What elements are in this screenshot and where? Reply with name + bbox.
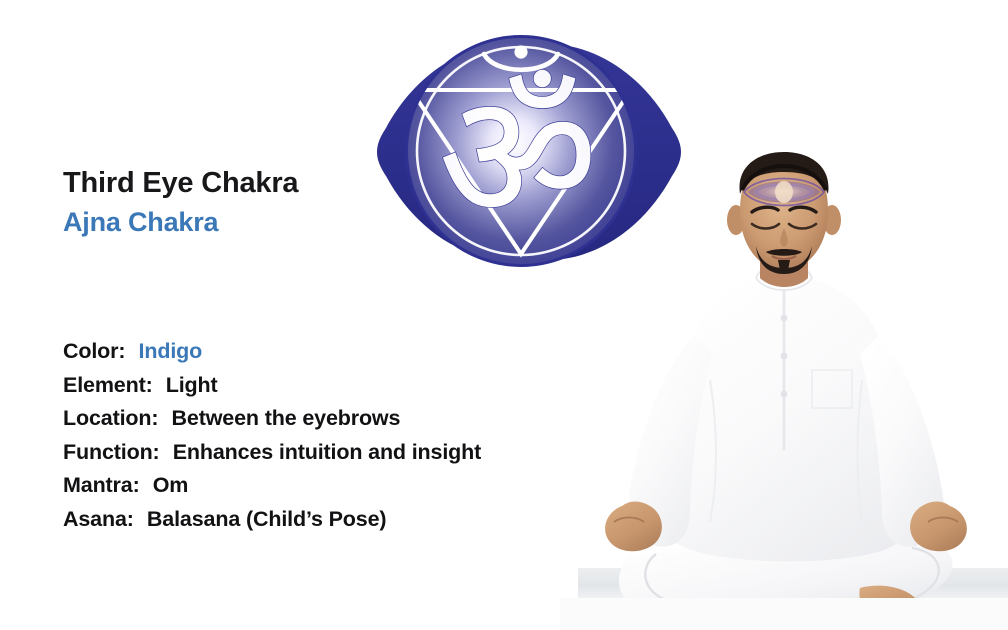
attribute-value: Balasana (Child’s Pose): [147, 507, 387, 531]
attribute-label: Color:: [63, 339, 125, 363]
head: [727, 152, 841, 274]
headline-block: Third Eye Chakra Ajna Chakra: [63, 166, 583, 239]
meditating-man-photo: [560, 150, 1008, 630]
attribute-row-location: Location: Between the eyebrows: [63, 402, 623, 436]
attribute-label: Location:: [63, 406, 158, 430]
attribute-row-function: Function: Enhances intuition and insight: [63, 436, 623, 470]
slide-canvas: ॐ Third Eye Chakra Ajna Chakra Color: In…: [0, 0, 1008, 630]
attribute-label: Asana:: [63, 507, 134, 531]
attribute-value: Om: [153, 473, 189, 497]
attribute-row-element: Element: Light: [63, 369, 623, 403]
attribute-value: Light: [166, 373, 218, 397]
attribute-label: Element:: [63, 373, 153, 397]
attribute-label: Mantra:: [63, 473, 140, 497]
page-title: Third Eye Chakra: [63, 166, 583, 200]
attribute-value: Indigo: [139, 339, 203, 363]
forehead-ajna-chakra-icon: [744, 179, 824, 206]
floor-surface: [560, 598, 1008, 630]
attribute-row-color: Color: Indigo: [63, 335, 623, 369]
attribute-value: Enhances intuition and insight: [173, 440, 481, 464]
page-subtitle: Ajna Chakra: [63, 207, 583, 239]
chakra-attribute-list: Color: Indigo Element: Light Location: B…: [63, 335, 623, 536]
attribute-label: Function:: [63, 440, 160, 464]
attribute-value: Between the eyebrows: [172, 406, 401, 430]
attribute-row-mantra: Mantra: Om: [63, 469, 623, 503]
attribute-row-asana: Asana: Balasana (Child’s Pose): [63, 503, 623, 537]
